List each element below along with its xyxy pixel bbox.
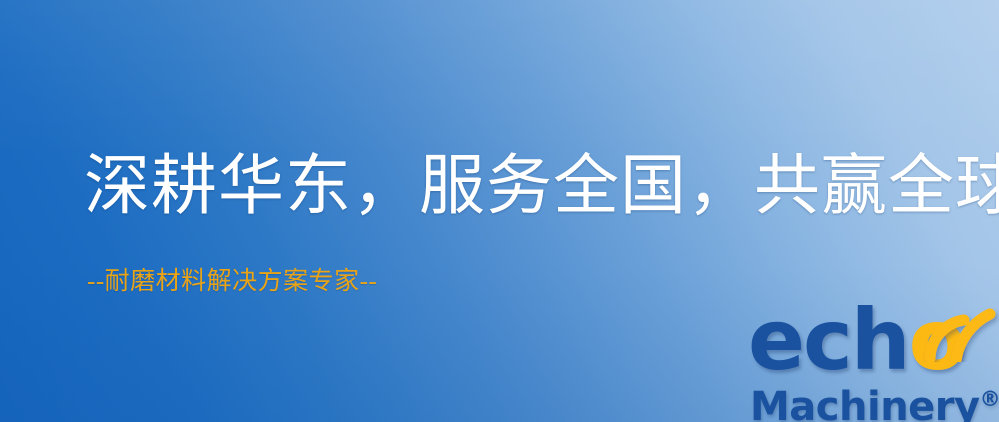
registered-trademark-icon: ® [980, 387, 999, 411]
banner-headline: 深耕华东，服务全国，共赢全球 [84, 150, 999, 224]
logo-tagline-text: Machinery [750, 384, 980, 422]
logo-tagline: Machinery® [750, 377, 999, 422]
banner-subtitle: --耐磨材料解决方案专家-- [87, 267, 377, 297]
echo-machinery-logo[interactable]: echo Machinery® [748, 292, 999, 422]
echo-wave-icon [916, 292, 999, 362]
hero-banner: 深耕华东，服务全国，共赢全球 --耐磨材料解决方案专家-- echo Machi… [0, 0, 999, 422]
logo-wordmark-prefix: ech [748, 291, 909, 389]
